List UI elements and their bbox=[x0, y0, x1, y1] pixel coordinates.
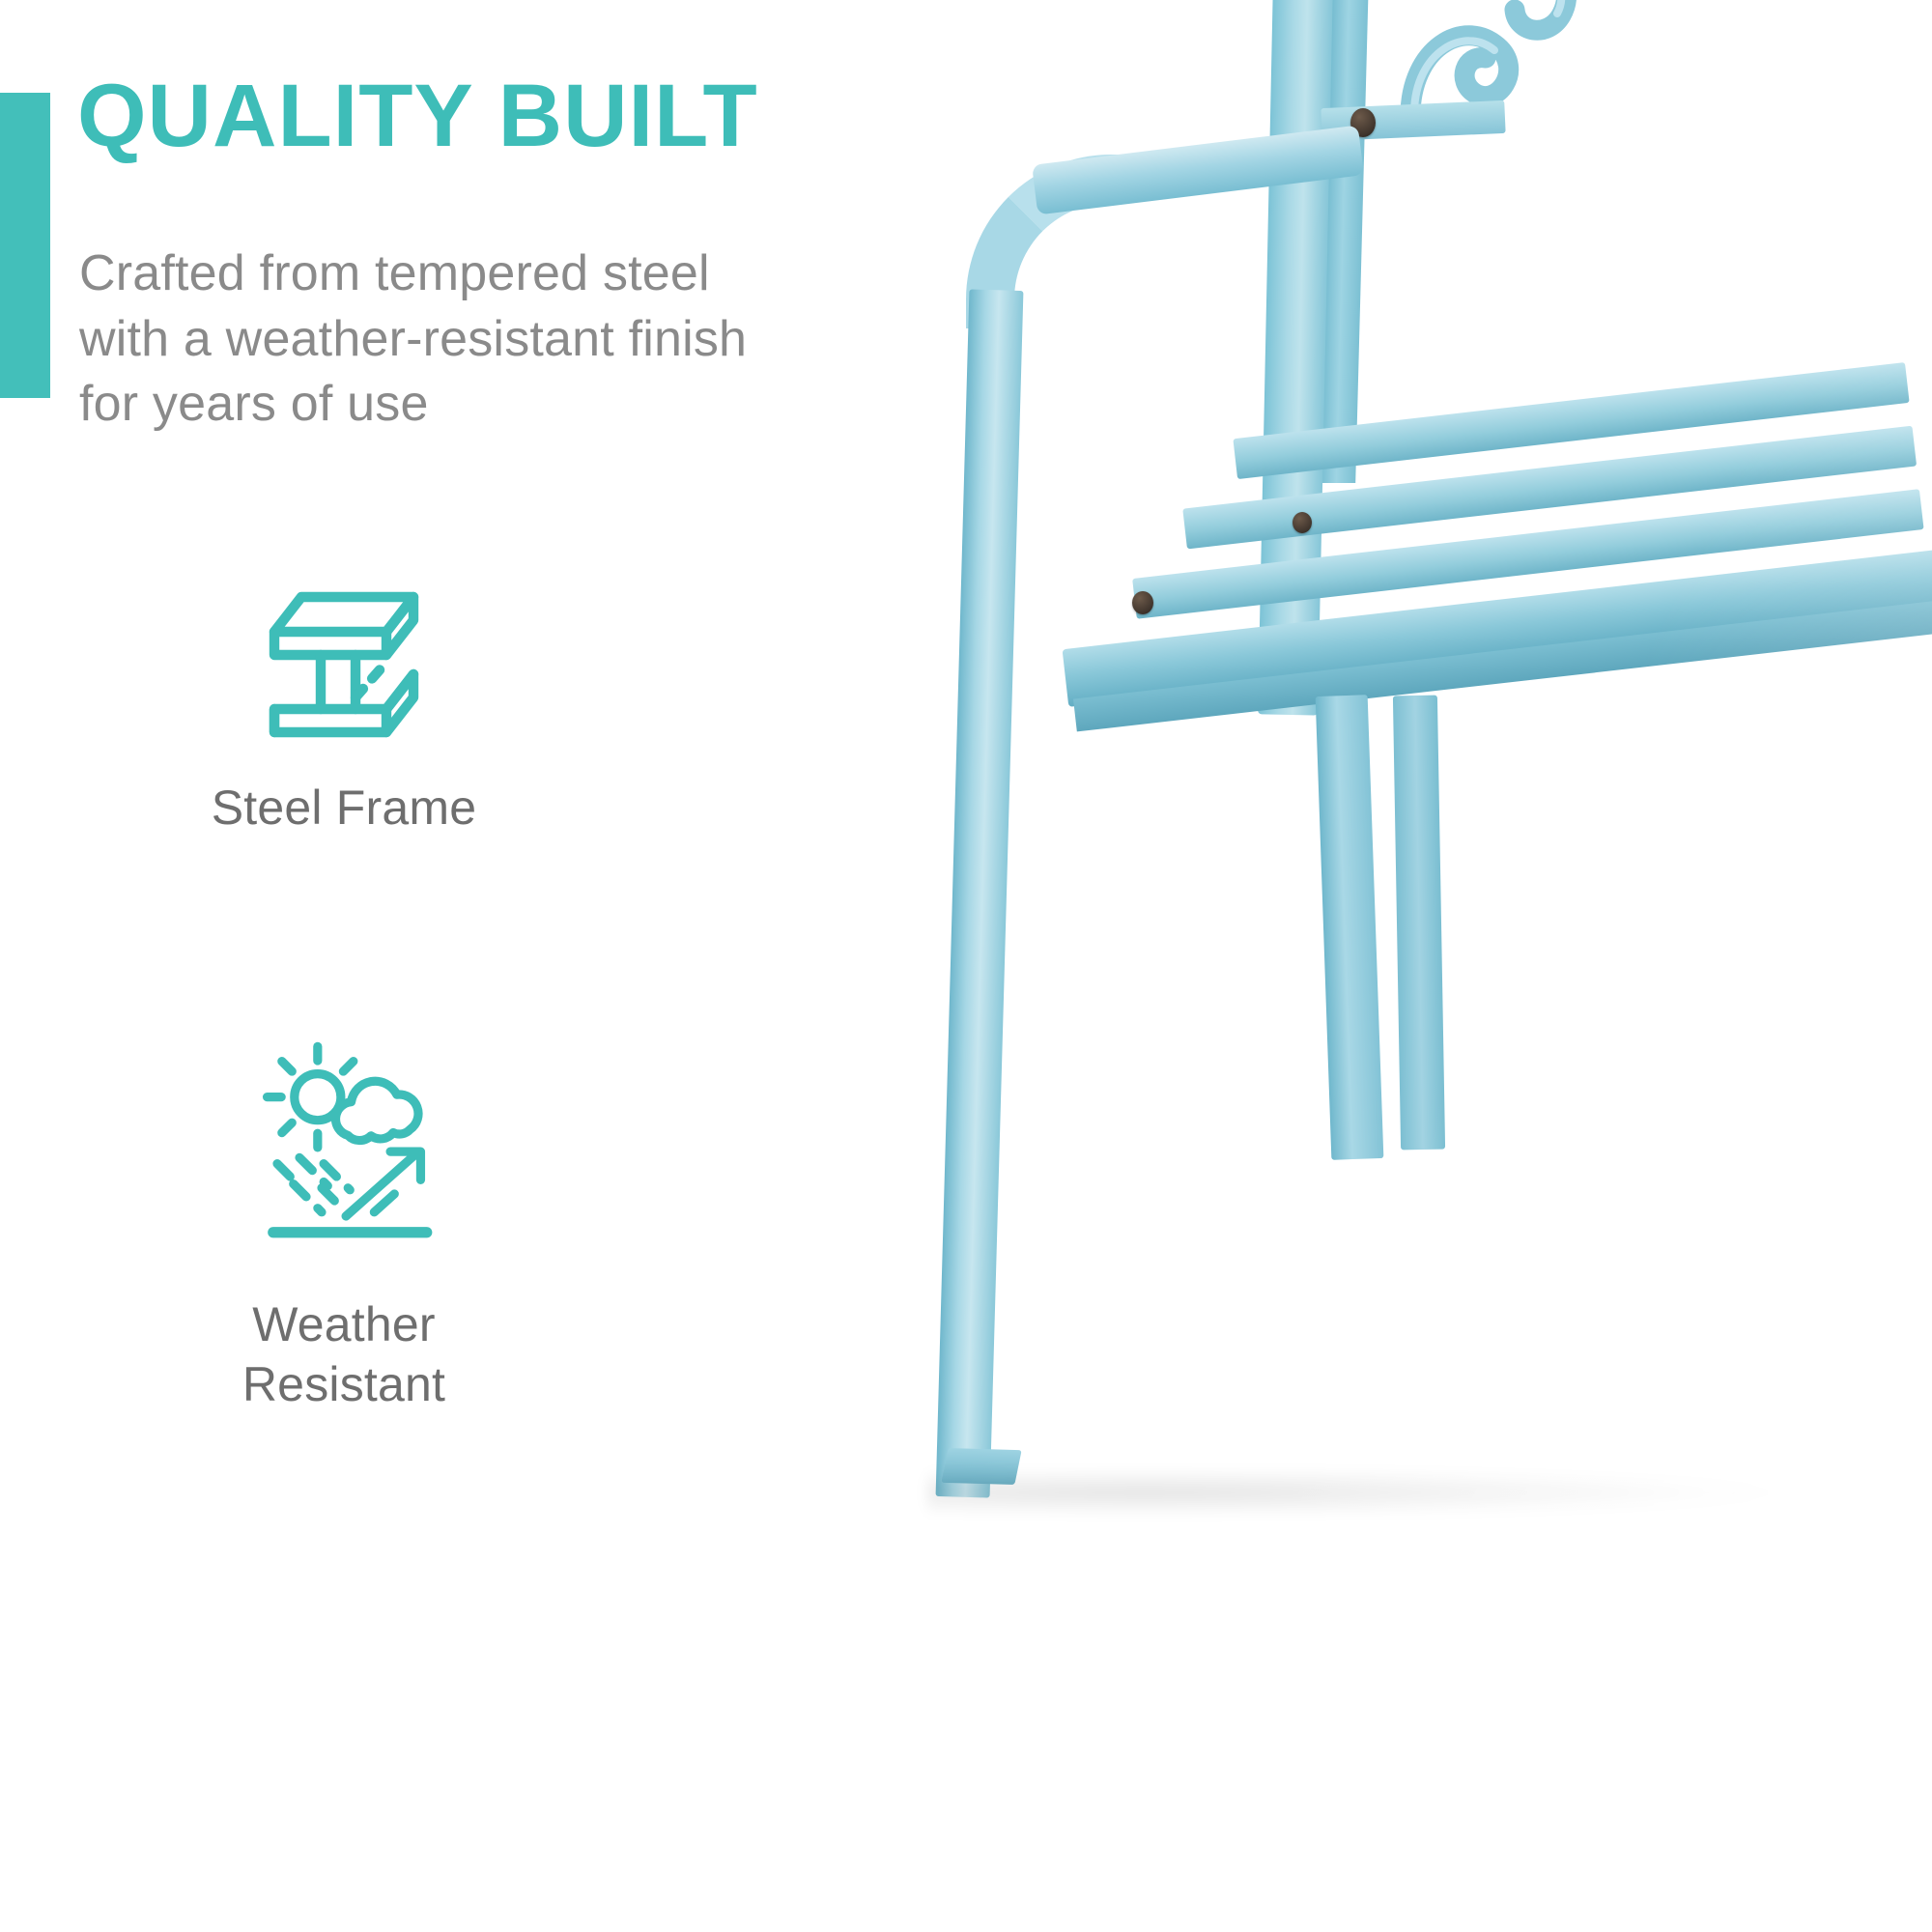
bolt-cap bbox=[1132, 591, 1153, 614]
bolt-cap bbox=[1293, 512, 1312, 533]
weather-icon-wrap bbox=[35, 1005, 653, 1294]
floor-shadow bbox=[927, 1468, 1797, 1517]
rear-leg bbox=[1316, 695, 1384, 1160]
outdoor-steel-bench-photo bbox=[869, 0, 1932, 1932]
page-root: QUALITY BUILT Crafted from tempered stee… bbox=[0, 0, 1932, 1932]
feature-weather-resistant-label: Weather Resistant bbox=[35, 1294, 653, 1414]
i-beam-icon bbox=[247, 570, 440, 763]
feature-weather-label-line-1: Weather bbox=[252, 1297, 435, 1351]
feature-weather-resistant: Weather Resistant bbox=[35, 1005, 653, 1414]
page-title: QUALITY BUILT bbox=[77, 71, 758, 160]
rear-leg-secondary bbox=[1393, 696, 1445, 1151]
feature-steel-frame: Steel Frame bbox=[35, 555, 653, 838]
sun-cloud-rain-deflect-icon bbox=[233, 1038, 455, 1261]
feature-weather-label-line-2: Resistant bbox=[242, 1357, 445, 1411]
i-beam-icon-wrap bbox=[35, 555, 653, 778]
page-subtitle: Crafted from tempered steel with a weath… bbox=[79, 241, 755, 438]
front-leg bbox=[936, 289, 1024, 1497]
feature-steel-frame-label: Steel Frame bbox=[35, 778, 653, 838]
accent-bar bbox=[0, 93, 50, 398]
